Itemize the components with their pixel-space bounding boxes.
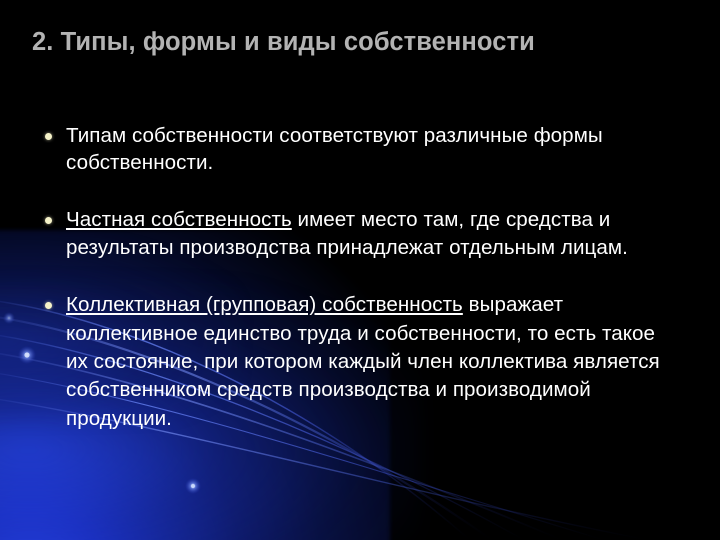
bullet-dot-icon — [45, 302, 52, 309]
presentation-slide: 2. Типы, формы и виды собственности Типа… — [0, 0, 720, 540]
slide-title: 2. Типы, формы и виды собственности — [32, 27, 692, 57]
bullet-list: Типам собственности соответствуют различ… — [40, 122, 665, 433]
bullet-lead-term: Частная собственность — [66, 208, 292, 231]
bullet-text: Типам собственности соответствуют различ… — [66, 124, 603, 174]
list-item: Частная собственность имеет место там, г… — [40, 206, 665, 261]
list-item: Типам собственности соответствуют различ… — [40, 122, 665, 176]
list-item: Коллективная (групповая) собственность в… — [40, 291, 665, 433]
bullet-dot-icon — [45, 217, 52, 224]
bullet-lead-term: Коллективная (групповая) собственность — [66, 293, 463, 316]
bullet-dot-icon — [45, 133, 52, 140]
